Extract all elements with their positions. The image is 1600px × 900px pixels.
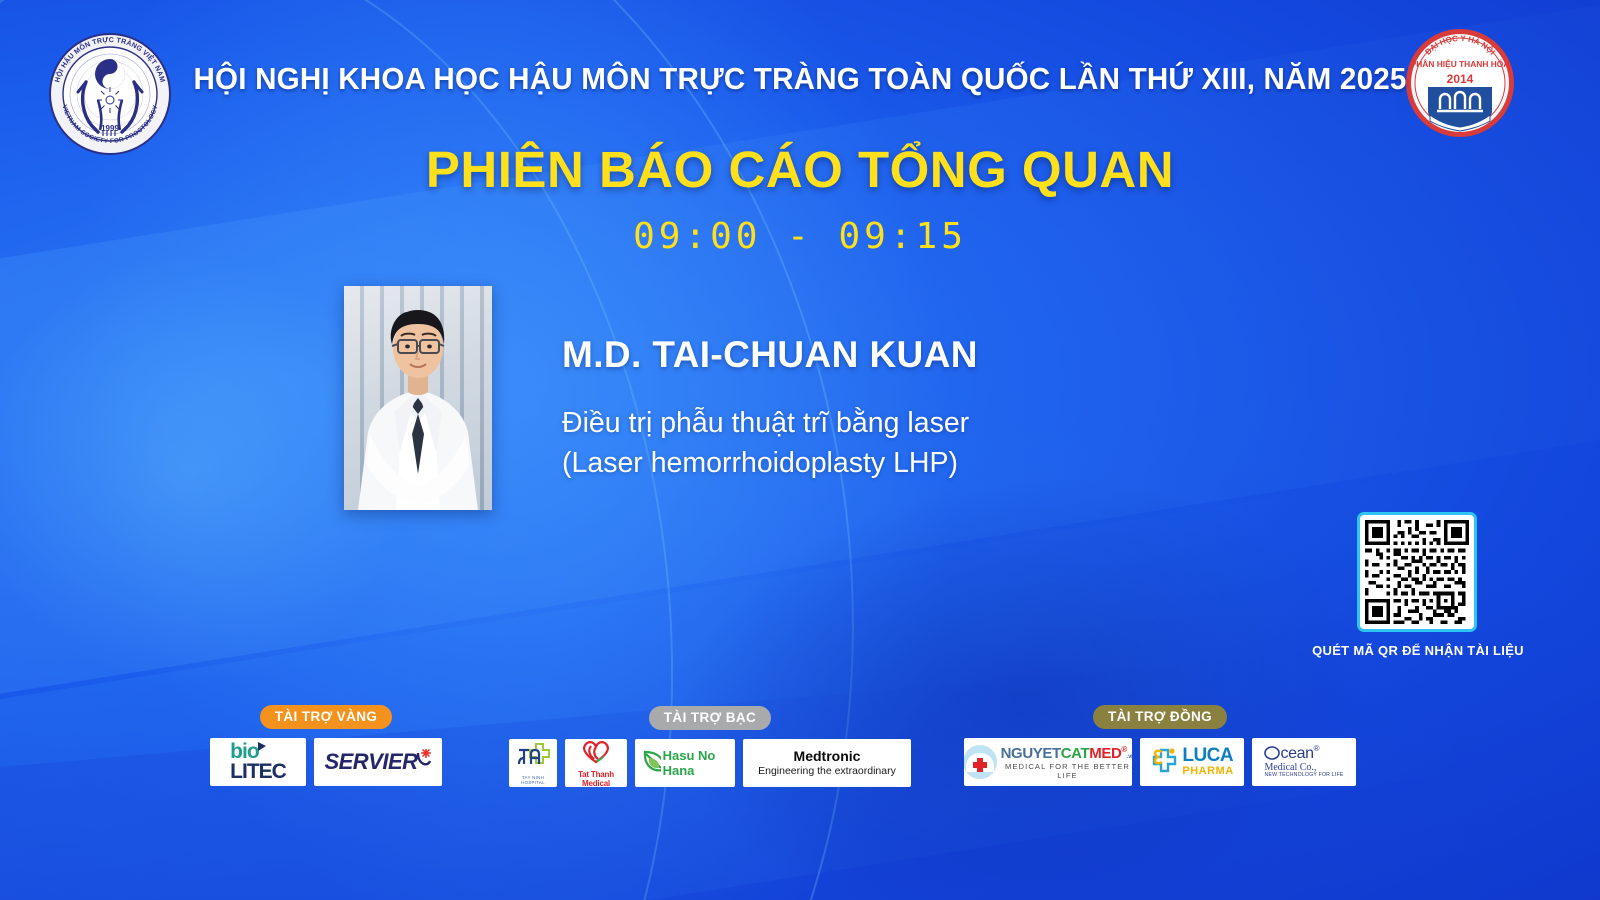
bronze-pill-wrap: TÀI TRỢ ĐỒNG: [960, 705, 1360, 729]
qr-code-icon[interactable]: [1357, 512, 1477, 632]
nguyet-cat-med-logo[interactable]: NGUYETCATMED®.vn MEDICAL FOR THE BETTER …: [964, 738, 1132, 786]
gold-pill-wrap: TÀI TRỢ VÀNG: [196, 705, 456, 729]
luca-logo-sub: PHARMA: [1182, 766, 1233, 778]
speaker-topic: Điều trị phẫu thuật trĩ bằng laser (Lase…: [562, 403, 969, 483]
tay-ninh-hospital-logo[interactable]: TAY NINH HOSPITAL: [509, 739, 557, 787]
speaker-name: M.D. TAI-CHUAN KUAN: [562, 334, 978, 376]
servier-logo[interactable]: SERVIER: [314, 738, 442, 786]
sponsor-tier-bronze: TÀI TRỢ ĐỒNG NGUYETCATMED®.vn MEDICAL FO: [960, 705, 1360, 786]
luca-logo-name: LUCA: [1182, 746, 1233, 766]
cat-word: CAT: [1061, 745, 1090, 762]
ocean-logo-tagline: NEW TECHNOLOGY FOR LIFE: [1264, 773, 1343, 779]
gold-logo-row: bio LITEC SERVIER: [196, 738, 456, 786]
hasu-no-hana-logo[interactable]: Hasu No Hana: [635, 739, 735, 787]
tat-thanh-medical-logo[interactable]: Tat Thanh Medical: [565, 739, 627, 787]
nurse-cap-icon: [964, 744, 998, 780]
ocean-registered-mark: ®: [1314, 744, 1320, 753]
nguyet-word: NGUYET: [1001, 745, 1061, 762]
medtronic-logo-name: Medtronic: [758, 748, 896, 766]
sponsor-tier-silver: TÀI TRỢ BẠC TAY NINH HOSPITAL: [500, 706, 920, 787]
registered-mark: ®: [1121, 745, 1127, 754]
bronze-logo-row: NGUYETCATMED®.vn MEDICAL FOR THE BETTER …: [960, 738, 1360, 786]
medtronic-logo-tagline: Engineering the extraordinary: [758, 765, 896, 778]
society-logo-year: 1999: [101, 124, 119, 133]
slide-content: 1999 HỘI HẬU MÔN TRỰC TRÀNG VIỆT NAM VIE…: [0, 0, 1600, 900]
speaker-portrait-illustration: [344, 286, 492, 510]
biolitec-logo[interactable]: bio LITEC: [210, 738, 306, 786]
luca-pharma-logo[interactable]: LUCA PHARMA: [1140, 738, 1244, 786]
session-title: PHIÊN BÁO CÁO TỔNG QUAN: [0, 140, 1600, 199]
ocean-o-icon: [1264, 745, 1280, 761]
vn-suffix: .vn: [1127, 754, 1132, 760]
biolitec-logo-line-2: LITEC: [230, 762, 286, 781]
nguyet-cat-med-tagline: MEDICAL FOR THE BETTER LIFE: [1001, 762, 1132, 780]
lotus-leaf-icon: [641, 748, 661, 778]
medical-cross-icon: [516, 742, 550, 770]
medtronic-logo[interactable]: Medtronic Engineering the extraordinary: [743, 739, 911, 787]
conference-title: HỘI NGHỊ KHOA HỌC HẬU MÔN TRỰC TRÀNG TOÀ…: [24, 62, 1576, 97]
heart-icon: [578, 739, 614, 765]
conference-slide: 1999 HỘI HẬU MÔN TRỰC TRÀNG VIỆT NAM VIE…: [0, 0, 1600, 900]
silver-tier-label: TÀI TRỢ BẠC: [649, 706, 771, 730]
sponsor-tier-gold: TÀI TRỢ VÀNG bio LITEC SERVI: [196, 705, 456, 786]
biolitec-logo-line-1: bio: [230, 740, 259, 763]
hasu-no-hana-text: Hasu No Hana: [663, 748, 729, 778]
speaker-topic-line-2: (Laser hemorrhoidoplasty LHP): [562, 443, 969, 483]
speaker-photo: [344, 286, 492, 510]
cross-butterfly-icon: [1150, 746, 1180, 778]
silver-pill-wrap: TÀI TRỢ BẠC: [500, 706, 920, 730]
ocean-logo-name: cean®: [1264, 745, 1343, 763]
gold-tier-label: TÀI TRỢ VÀNG: [260, 705, 393, 729]
ocean-word: cean: [1280, 745, 1313, 762]
tay-ninh-hospital-caption: TAY NINH HOSPITAL: [515, 775, 551, 785]
biolitec-flag-icon: [257, 742, 267, 752]
speaker-topic-line-1: Điều trị phẫu thuật trĩ bằng laser: [562, 403, 969, 443]
med-word: MED: [1089, 745, 1121, 762]
qr-caption: QUÉT MÃ QR ĐỂ NHẬN TÀI LIỆU: [1258, 643, 1578, 658]
silver-logo-row: TAY NINH HOSPITAL Tat Than: [500, 739, 920, 787]
biolitec-logo-text: bio LITEC: [230, 742, 286, 781]
nguyet-cat-med-name: NGUYETCATMED®.vn: [1001, 745, 1132, 762]
servier-asterisk-icon: [416, 749, 432, 775]
ocean-medical-logo[interactable]: cean® Medical Co., NEW TECHNOLOGY FOR LI…: [1252, 738, 1356, 786]
bronze-tier-label: TÀI TRỢ ĐỒNG: [1093, 705, 1227, 729]
servier-logo-text: SERVIER: [324, 749, 417, 775]
tat-thanh-medical-text: Tat Thanh Medical: [571, 770, 621, 788]
session-time: 09:00 - 09:15: [0, 216, 1600, 257]
